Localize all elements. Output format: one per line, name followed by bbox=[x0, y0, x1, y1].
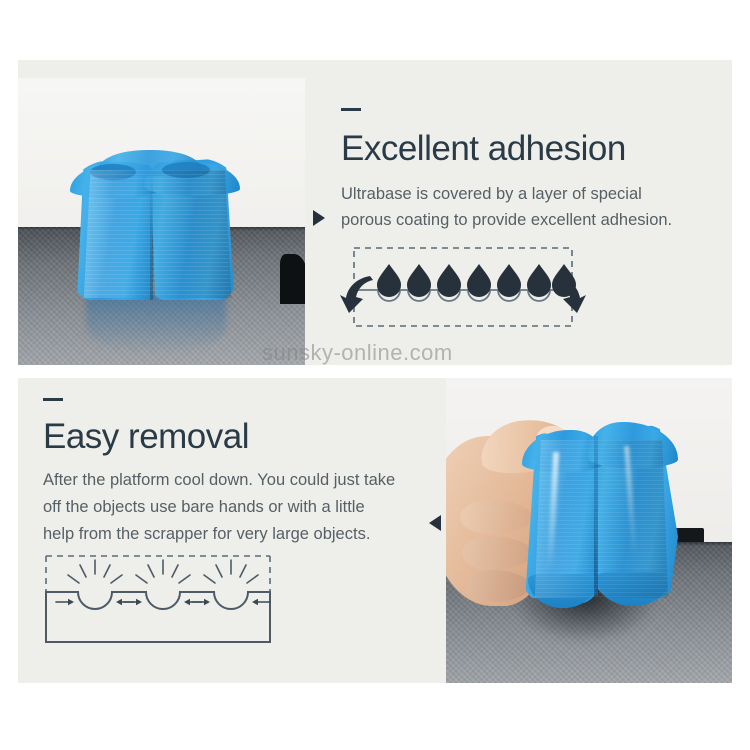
vase-layer-lines-sheen bbox=[526, 440, 674, 598]
panel-easy-removal: Easy removal After the platform cool dow… bbox=[18, 378, 732, 683]
droplet-group bbox=[377, 264, 576, 297]
text-easy-removal: Easy removal After the platform cool dow… bbox=[43, 398, 443, 548]
droplet-icon-6 bbox=[527, 264, 551, 297]
dashed-side-borders bbox=[46, 556, 270, 592]
panel-title-easy-removal: Easy removal bbox=[43, 417, 443, 457]
text-excellent-adhesion: Excellent adhesion Ultrabase is covered … bbox=[341, 108, 721, 233]
panel-body-line-1: Ultrabase is covered by a layer of speci… bbox=[341, 181, 721, 207]
pointer-triangle-right-icon bbox=[313, 210, 325, 226]
release-arrow-group bbox=[56, 599, 270, 605]
panel-title-excellent-adhesion: Excellent adhesion bbox=[341, 129, 721, 169]
droplet-icon-5 bbox=[497, 264, 521, 297]
release-arrow-right-1 bbox=[56, 599, 74, 605]
burst-icon-1 bbox=[68, 560, 122, 583]
release-arrow-right-3 bbox=[192, 599, 210, 605]
panel-excellent-adhesion: Excellent adhesion Ultrabase is covered … bbox=[18, 60, 732, 365]
release-arrow-right-2 bbox=[124, 599, 142, 605]
release-arrow-left-3 bbox=[252, 599, 270, 605]
droplet-icon-1 bbox=[377, 264, 401, 297]
panel-body-line-2: porous coating to provide excellent adhe… bbox=[341, 207, 721, 233]
burst-icon-3 bbox=[204, 560, 258, 583]
photo-hand-peeling-vase-off-print-bed bbox=[446, 378, 732, 683]
curved-arrow-down-left-icon bbox=[340, 276, 373, 313]
panel-body-line-3: help from the scrapper for very large ob… bbox=[43, 521, 443, 548]
removal-schematic-svg bbox=[38, 550, 298, 660]
burst-icon-2 bbox=[136, 560, 190, 583]
diagram-cooled-platform-release bbox=[38, 550, 298, 660]
photo-blue-3d-printed-vase-on-print-bed bbox=[18, 78, 305, 365]
panel-body-line-1: After the platform cool down. You could … bbox=[43, 467, 443, 494]
printed-vase-object bbox=[522, 422, 678, 606]
printer-frame-right bbox=[280, 254, 305, 304]
droplet-icon-3 bbox=[437, 264, 461, 297]
diagram-porous-coating-adhesion bbox=[338, 242, 588, 334]
vase-layer-lines-sheen bbox=[74, 170, 238, 298]
printed-vase-object bbox=[70, 148, 240, 300]
burst-group bbox=[68, 560, 258, 583]
title-accent-dash bbox=[341, 108, 361, 111]
adhesion-schematic-svg bbox=[338, 242, 588, 334]
pointer-triangle-left-icon bbox=[429, 515, 441, 531]
product-feature-image: Excellent adhesion Ultrabase is covered … bbox=[0, 0, 750, 750]
title-accent-dash bbox=[43, 398, 63, 401]
panel-body-line-2: off the objects use bare hands or with a… bbox=[43, 494, 443, 521]
droplet-icon-2 bbox=[407, 264, 431, 297]
vase-reflection bbox=[86, 292, 226, 354]
droplet-icon-4 bbox=[467, 264, 491, 297]
substrate-slab-with-domes bbox=[46, 592, 270, 642]
